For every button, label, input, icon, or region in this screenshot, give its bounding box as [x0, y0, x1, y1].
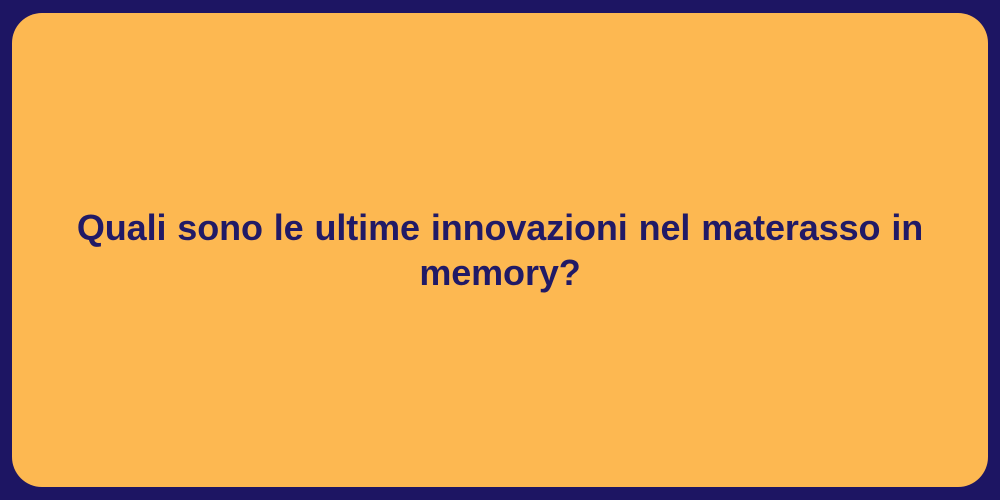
outer-border-frame: Quali sono le ultime innovazioni nel mat…: [0, 0, 1000, 500]
question-card: Quali sono le ultime innovazioni nel mat…: [12, 13, 988, 487]
question-heading: Quali sono le ultime innovazioni nel mat…: [56, 205, 944, 295]
